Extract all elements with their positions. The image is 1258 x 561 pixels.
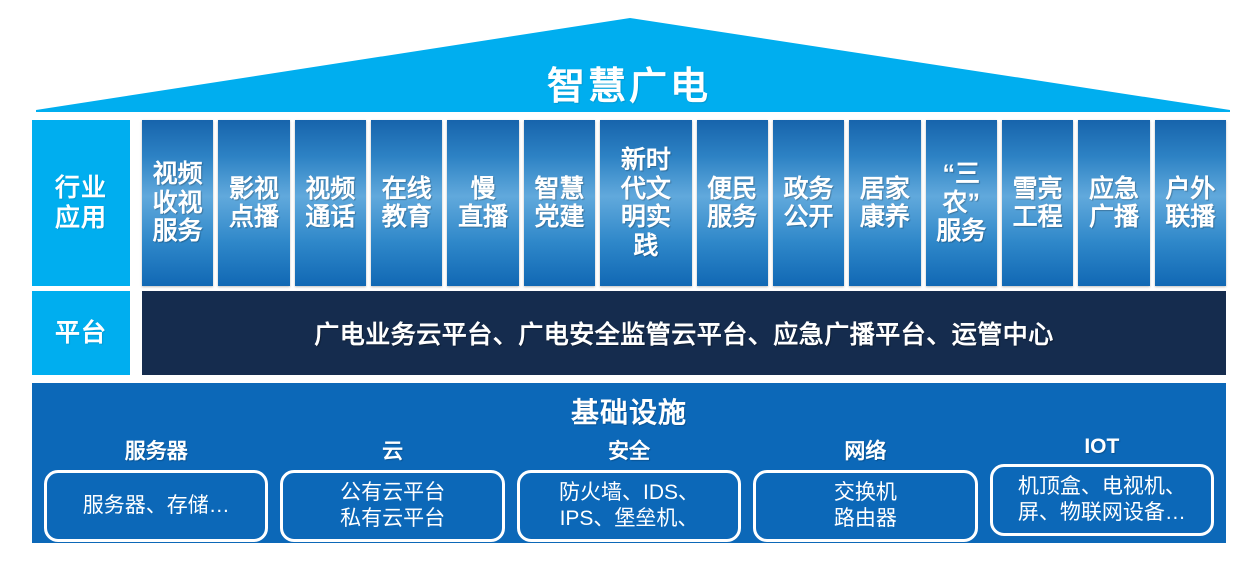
infrastructure-box-security[interactable]: 防火墙、IDS、 IPS、堡垒机、	[517, 470, 741, 542]
application-label-line2: 应用	[55, 203, 107, 234]
infrastructure-box-network[interactable]: 交换机 路由器	[753, 470, 977, 542]
infrastructure-column-iot: IOT 机顶盒、电视机、 屏、物联网设备…	[990, 435, 1214, 542]
roof-triangle-icon	[0, 0, 1258, 118]
infrastructure-column-server: 服务器 服务器、存储…	[44, 435, 268, 542]
infrastructure-box-cloud[interactable]: 公有云平台 私有云平台	[280, 470, 504, 542]
app-tile-online-education[interactable]: 在线 教育	[371, 120, 442, 286]
infrastructure-box-iot[interactable]: 机顶盒、电视机、 屏、物联网设备…	[990, 464, 1214, 536]
app-tile-new-era-civilization[interactable]: 新时 代文 明实 践	[600, 120, 691, 286]
infrastructure-column-network: 网络 交换机 路由器	[753, 435, 977, 542]
infrastructure-column-title-network: 网络	[753, 435, 977, 465]
app-tile-convenience-service[interactable]: 便民 服务	[697, 120, 768, 286]
infrastructure-box-server[interactable]: 服务器、存储…	[44, 470, 268, 542]
app-tile-government-openness[interactable]: 政务 公开	[773, 120, 844, 286]
app-tile-sannong-service[interactable]: “三 农” 服务	[926, 120, 997, 286]
app-tile-slow-live[interactable]: 慢 直播	[447, 120, 518, 286]
infrastructure-column-cloud: 云 公有云平台 私有云平台	[280, 435, 504, 542]
roof-banner: 智慧广电	[0, 0, 1258, 118]
infrastructure-section: 基础设施 服务器 服务器、存储… 云 公有云平台 私有云平台 安全 防火墙、ID…	[32, 383, 1226, 543]
app-tile-xueliang-project[interactable]: 雪亮 工程	[1002, 120, 1073, 286]
app-tile-home-care[interactable]: 居家 康养	[849, 120, 920, 286]
infrastructure-columns: 服务器 服务器、存储… 云 公有云平台 私有云平台 安全 防火墙、IDS、 IP…	[32, 431, 1226, 542]
app-tile-video-call[interactable]: 视频 通话	[295, 120, 366, 286]
infrastructure-column-title-server: 服务器	[44, 435, 268, 465]
application-row: 行业 应用 视频 收视 服务 影视 点播 视频 通话 在线 教育 慢 直播 智慧…	[32, 120, 1226, 286]
infrastructure-column-title-security: 安全	[517, 435, 741, 465]
app-tile-outdoor-broadcast[interactable]: 户外 联播	[1155, 120, 1226, 286]
platform-row: 平台 广电业务云平台、广电安全监管云平台、应急广播平台、运管中心	[32, 291, 1226, 375]
application-label-line1: 行业	[55, 173, 107, 204]
app-tile-video-rating-service[interactable]: 视频 收视 服务	[142, 120, 213, 286]
platform-bar[interactable]: 广电业务云平台、广电安全监管云平台、应急广播平台、运管中心	[142, 291, 1226, 375]
infrastructure-column-security: 安全 防火墙、IDS、 IPS、堡垒机、	[517, 435, 741, 542]
app-tile-smart-party-building[interactable]: 智慧 党建	[524, 120, 595, 286]
infrastructure-column-title-iot: IOT	[990, 435, 1214, 459]
infrastructure-column-title-cloud: 云	[280, 435, 504, 465]
application-tiles: 视频 收视 服务 影视 点播 视频 通话 在线 教育 慢 直播 智慧 党建 新时…	[142, 120, 1226, 286]
app-tile-emergency-broadcast[interactable]: 应急 广播	[1078, 120, 1149, 286]
application-row-label: 行业 应用	[32, 120, 130, 286]
app-tile-video-on-demand[interactable]: 影视 点播	[218, 120, 289, 286]
infrastructure-title: 基础设施	[32, 383, 1226, 431]
platform-row-label: 平台	[32, 291, 130, 375]
smart-broadcasting-architecture-diagram: 智慧广电 行业 应用 视频 收视 服务 影视 点播 视频 通话 在线 教育 慢 …	[0, 0, 1258, 561]
